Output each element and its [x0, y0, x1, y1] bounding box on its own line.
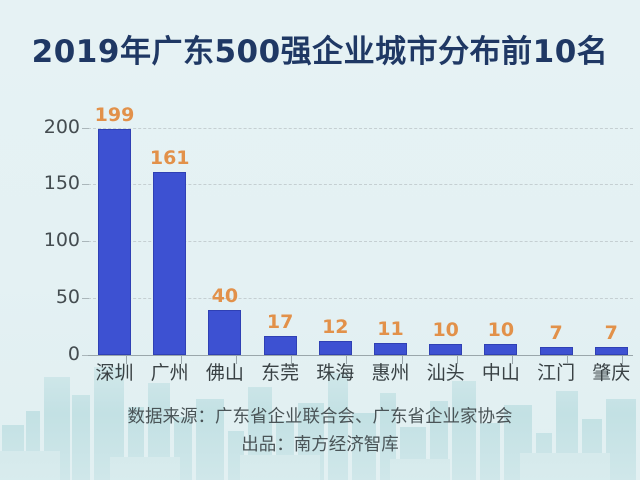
bar-value-label-深圳: 199 — [85, 106, 145, 125]
bar-中山[interactable] — [484, 344, 517, 355]
x-tick-4 — [346, 355, 347, 364]
bar-value-label-汕头: 10 — [416, 321, 476, 340]
y-axis-label-50: 50 — [18, 288, 80, 307]
x-axis-label-汕头: 汕头 — [416, 364, 476, 383]
bar-value-label-肇庆: 7 — [581, 324, 640, 343]
bar-chart: 200 150 100 50 0 199深圳161广州40佛山17东莞12珠海1… — [0, 0, 640, 400]
y-axis-label-150: 150 — [18, 174, 80, 193]
bar-汕头[interactable] — [429, 344, 462, 355]
bar-肇庆[interactable] — [595, 347, 628, 355]
x-tick-3 — [291, 355, 292, 364]
bar-广州[interactable] — [153, 172, 186, 355]
bar-value-label-惠州: 11 — [361, 320, 421, 339]
bar-佛山[interactable] — [208, 310, 241, 355]
x-axis-label-广州: 广州 — [140, 364, 200, 383]
bar-value-label-佛山: 40 — [195, 287, 255, 306]
x-axis-label-深圳: 深圳 — [85, 364, 145, 383]
data-source-line: 数据来源：广东省企业联合会、广东省企业家协会 — [0, 403, 640, 431]
y-tick-50 — [82, 298, 89, 299]
x-axis-label-东莞: 东莞 — [250, 364, 310, 383]
x-tick-0 — [126, 355, 127, 364]
y-tick-150 — [82, 184, 89, 185]
bar-珠海[interactable] — [319, 341, 352, 355]
y-axis-label-200: 200 — [18, 118, 80, 137]
x-axis-label-肇庆: 肇庆 — [581, 364, 640, 383]
x-axis-baseline — [88, 355, 633, 356]
x-tick-5 — [402, 355, 403, 364]
y-axis-label-100: 100 — [18, 231, 80, 250]
x-tick-9 — [622, 355, 623, 364]
bar-value-label-珠海: 12 — [305, 318, 365, 337]
bar-value-label-中山: 10 — [471, 321, 531, 340]
x-axis-label-江门: 江门 — [526, 364, 586, 383]
poster-canvas: 2019年广东500强企业城市分布前10名 200 150 100 50 — [0, 0, 640, 480]
y-tick-200 — [82, 128, 89, 129]
bar-value-label-江门: 7 — [526, 324, 586, 343]
bar-value-label-广州: 161 — [140, 149, 200, 168]
bar-惠州[interactable] — [374, 343, 407, 355]
footer-credits: 数据来源：广东省企业联合会、广东省企业家协会 出品：南方经济智库 — [0, 403, 640, 459]
producer-line: 出品：南方经济智库 — [0, 431, 640, 459]
x-axis-label-惠州: 惠州 — [361, 364, 421, 383]
gridline-200 — [88, 128, 633, 129]
bar-东莞[interactable] — [264, 336, 297, 355]
y-tick-100 — [82, 241, 89, 242]
x-axis-label-佛山: 佛山 — [195, 364, 255, 383]
x-axis-label-中山: 中山 — [471, 364, 531, 383]
x-axis-label-珠海: 珠海 — [305, 364, 365, 383]
x-tick-8 — [567, 355, 568, 364]
bar-江门[interactable] — [540, 347, 573, 355]
bar-value-label-东莞: 17 — [250, 313, 310, 332]
x-tick-2 — [236, 355, 237, 364]
bar-深圳[interactable] — [98, 129, 131, 355]
y-axis-label-0: 0 — [18, 345, 80, 364]
x-tick-7 — [512, 355, 513, 364]
x-tick-1 — [181, 355, 182, 364]
x-tick-6 — [457, 355, 458, 364]
